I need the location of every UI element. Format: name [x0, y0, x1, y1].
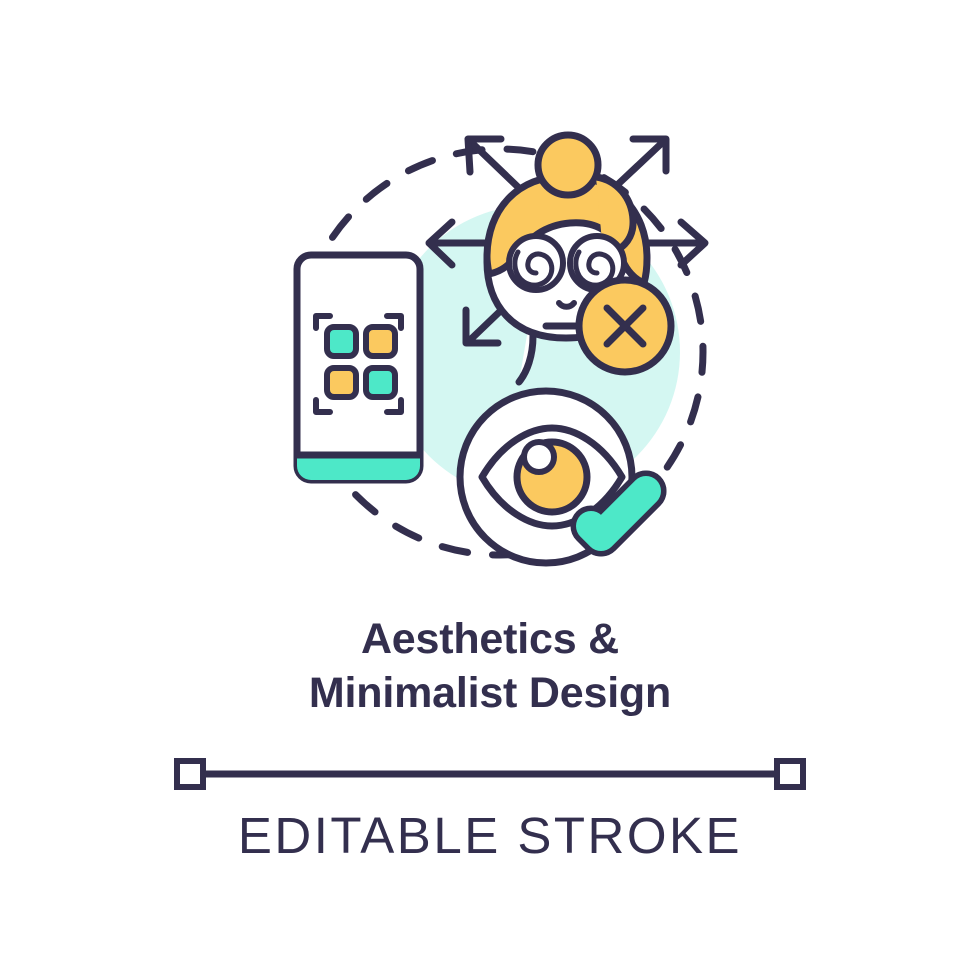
editable-stroke-footer: EDITABLE STROKE	[0, 752, 980, 865]
tile-bottom-right[interactable]	[366, 368, 395, 397]
arrow-up-right	[614, 139, 666, 188]
tile-top-left[interactable]	[327, 327, 356, 356]
eye-highlight	[524, 442, 554, 472]
cross-badge[interactable]	[579, 280, 671, 372]
tile-top-right[interactable]	[366, 327, 395, 356]
page-title: Aesthetics & Minimalist Design	[0, 612, 980, 720]
phone-body	[297, 255, 420, 480]
hair-bun	[538, 135, 598, 195]
stroke-handle-right[interactable]	[777, 761, 803, 787]
icon-canvas: Aesthetics & Minimalist Design EDITABLE …	[0, 0, 980, 980]
smartphone[interactable]	[297, 255, 420, 480]
phone-bottom-bar	[297, 455, 420, 480]
tile-bottom-left[interactable]	[327, 368, 356, 397]
editable-stroke-label: EDITABLE STROKE	[0, 806, 980, 865]
stroke-handle-left[interactable]	[177, 761, 203, 787]
page-title-line-2: Minimalist Design	[0, 666, 980, 720]
page-title-line-1: Aesthetics &	[0, 612, 980, 666]
illustration-svg	[0, 0, 980, 620]
stroke-width-bar[interactable]	[170, 752, 810, 796]
